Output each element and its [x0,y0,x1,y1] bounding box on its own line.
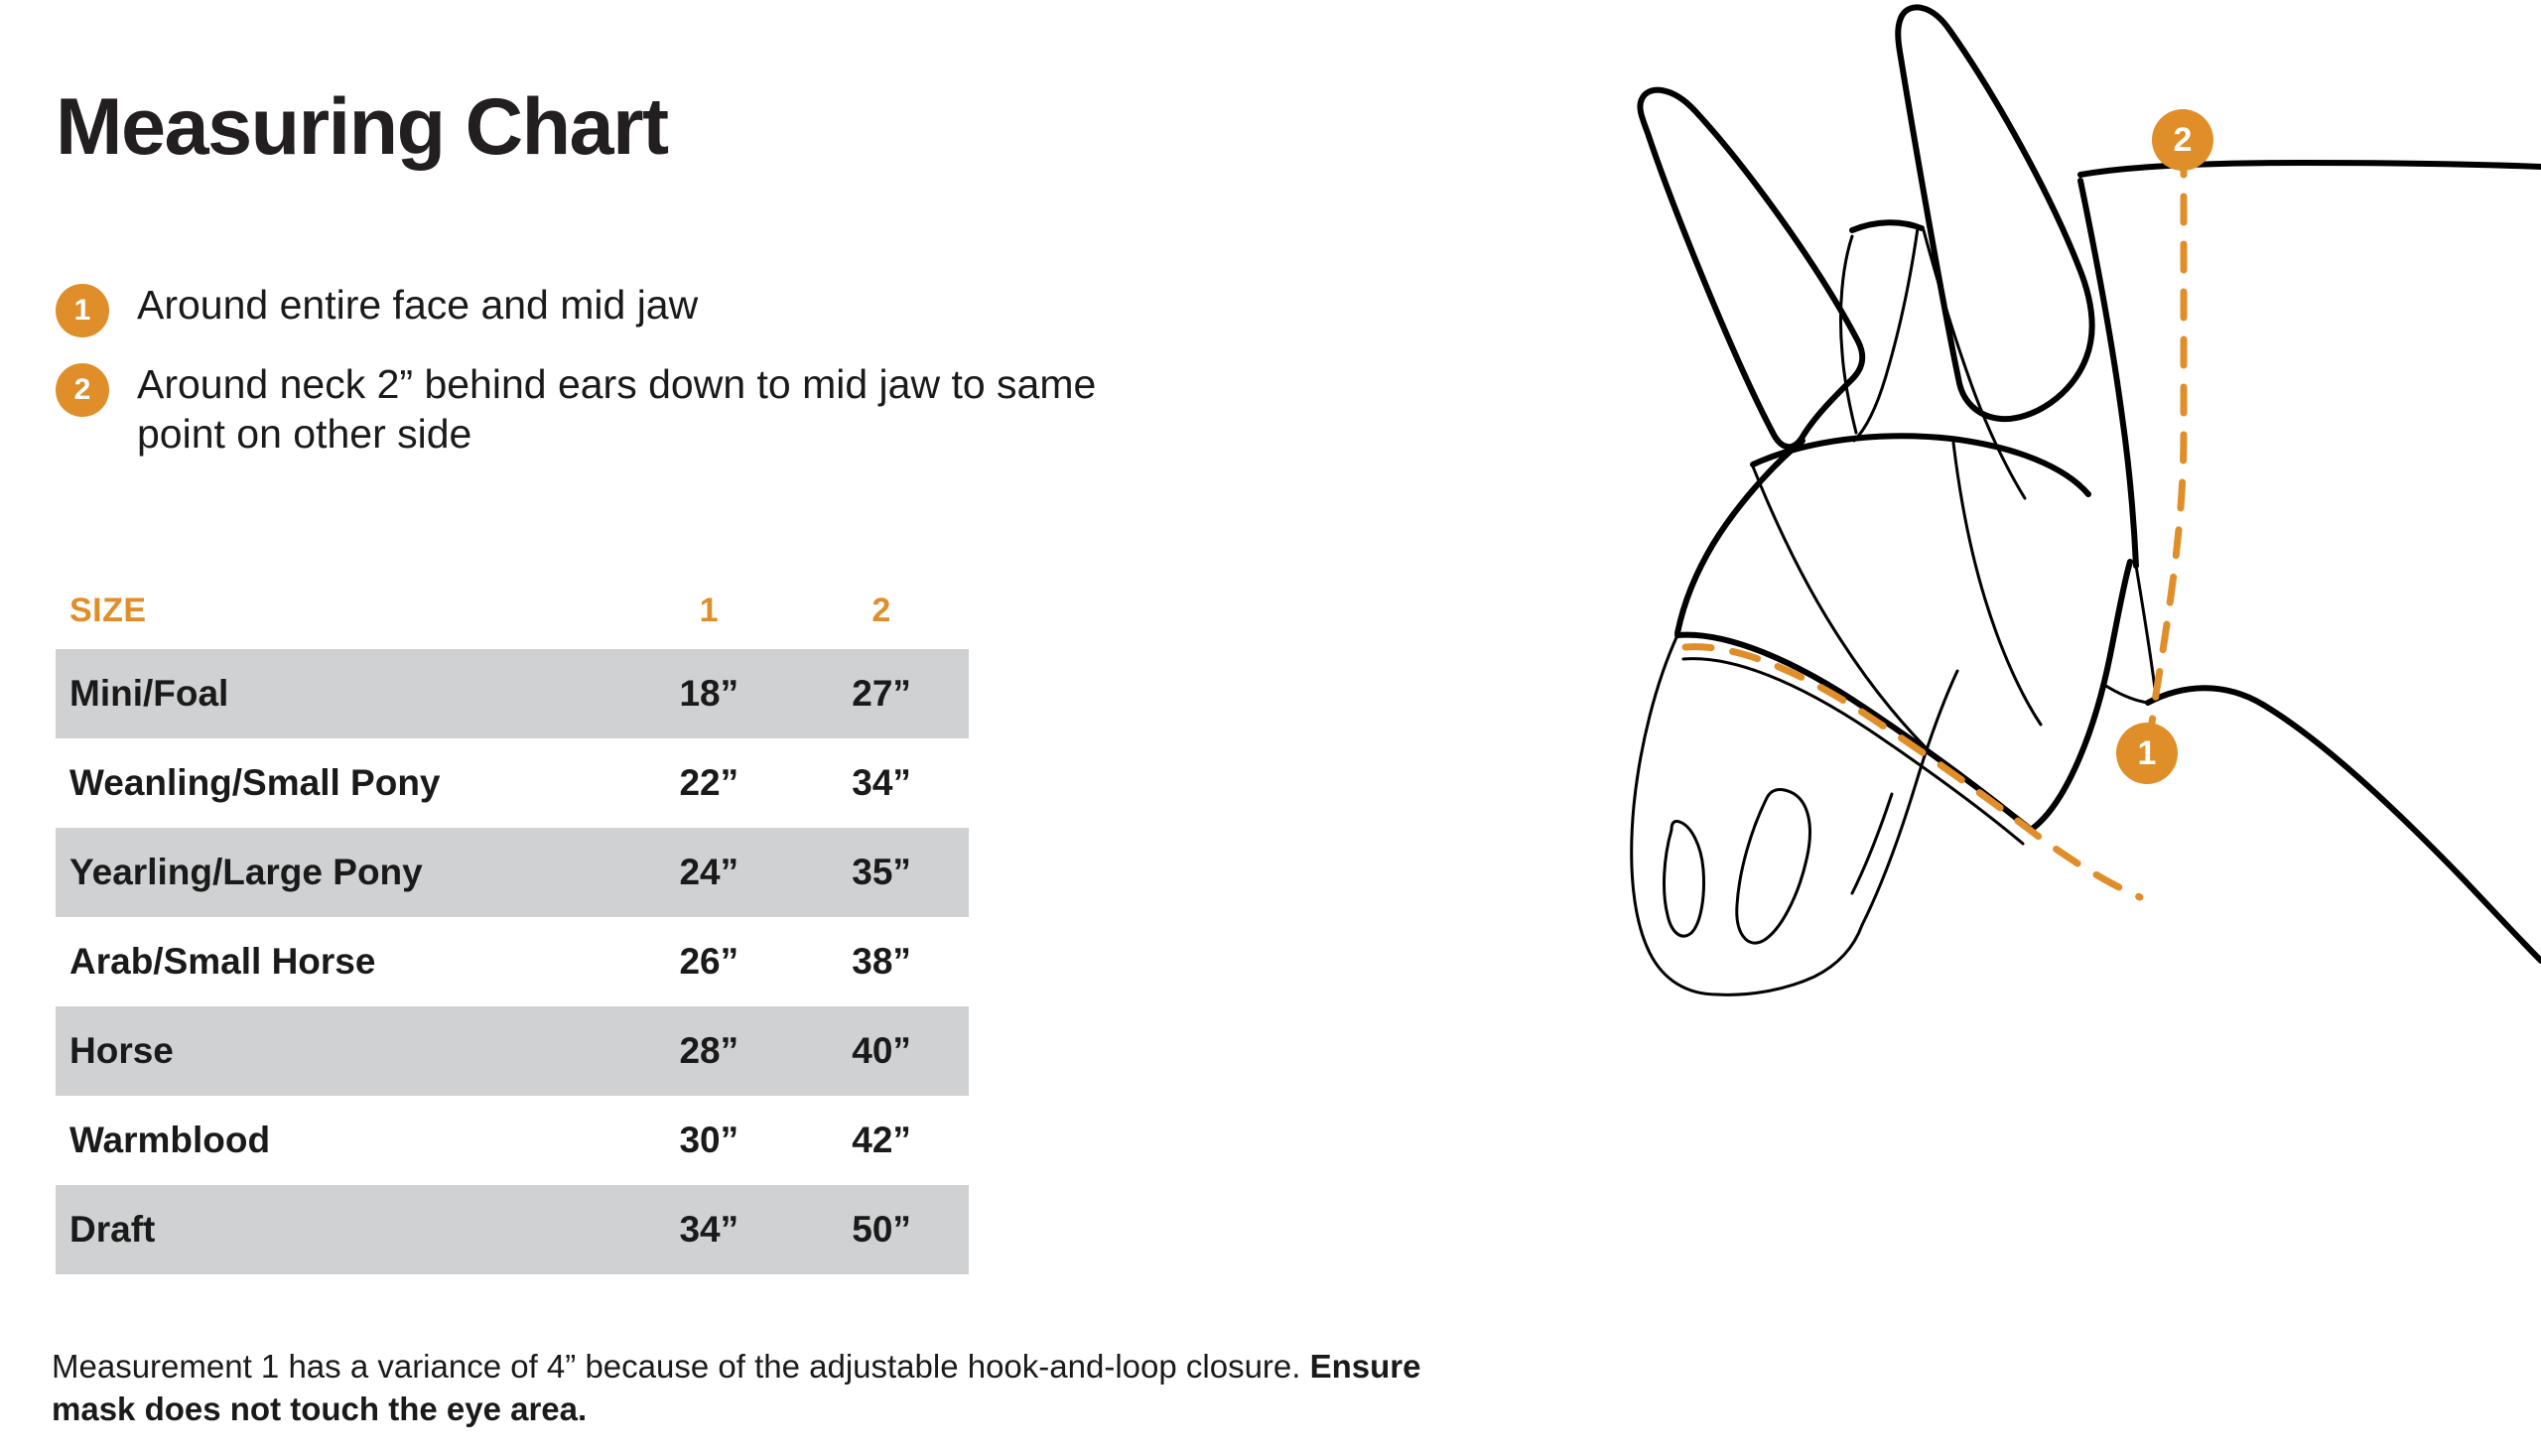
cell-size: Arab/Small Horse [56,917,623,1006]
mask-jaw-strap-inner [1683,659,2023,844]
info-panel: Measuring Chart 1 Around entire face and… [0,0,1608,1456]
cell-size: Weanling/Small Pony [56,738,623,828]
cell-measurement-2: 27” [794,649,969,738]
step-text-1: Around entire face and mid jaw [137,280,698,330]
list-item: 1 Around entire face and mid jaw [56,280,1147,337]
muzzle-bottom-outline [1717,925,1862,994]
list-item: 2 Around neck 2” behind ears down to mid… [56,359,1147,459]
cell-measurement-1: 30” [623,1096,794,1185]
cell-size: Yearling/Large Pony [56,828,623,917]
cell-measurement-2: 42” [794,1096,969,1185]
cell-size: Horse [56,1006,623,1096]
muzzle-left-outline [1632,635,1717,994]
cheek-right-outline [2031,562,2130,830]
table-row: Weanling/Small Pony 22” 34” [56,738,969,828]
table-row: Yearling/Large Pony 24” 35” [56,828,969,917]
table-row: Warmblood 30” 42” [56,1096,969,1185]
cell-measurement-1: 22” [623,738,794,828]
table-row: Horse 28” 40” [56,1006,969,1096]
cell-size: Draft [56,1185,623,1274]
callout-badge-1: 1 [2116,723,2178,784]
cell-measurement-1: 18” [623,649,794,738]
footnote: Measurement 1 has a variance of 4” becau… [52,1346,1501,1431]
measuring-chart-page: Measuring Chart 1 Around entire face and… [0,0,2541,1456]
measurement-steps-list: 1 Around entire face and mid jaw 2 Aroun… [56,280,1147,480]
callout-badge-2: 2 [2152,109,2213,171]
cell-measurement-2: 50” [794,1185,969,1274]
table-header: SIZE 1 2 [56,572,969,649]
cell-size: Warmblood [56,1096,623,1185]
cell-measurement-1: 28” [623,1006,794,1096]
table-header-row: SIZE 1 2 [56,572,969,649]
right-nostril [1737,790,1810,944]
cell-measurement-1: 34” [623,1185,794,1274]
neck-top-line [2080,163,2541,175]
mask-browband-line [1753,436,2088,494]
cell-measurement-2: 35” [794,828,969,917]
table-body: Mini/Foal 18” 27” Weanling/Small Pony 22… [56,649,969,1274]
cell-size: Mini/Foal [56,649,623,738]
column-header-size: SIZE [56,572,623,649]
horse-head-diagram-svg [1568,0,2541,1102]
measurement-2-dashed-line [2150,149,2184,736]
mask-side-seam-right [1953,443,2041,725]
footnote-normal-text: Measurement 1 has a variance of 4” becau… [52,1348,1310,1385]
cell-measurement-2: 40” [794,1006,969,1096]
muzzle-right-outline [1862,671,1957,925]
throat-inner-line [2136,566,2156,697]
table-row: Draft 34” 50” [56,1185,969,1274]
cell-measurement-2: 34” [794,738,969,828]
cell-measurement-2: 38” [794,917,969,1006]
column-header-1: 1 [623,572,794,649]
column-header-2: 2 [794,572,969,649]
cell-measurement-1: 24” [623,828,794,917]
horse-head-illustration: 2 1 [1568,0,2541,1102]
size-table-container: SIZE 1 2 Mini/Foal 18” 27” Weanling/Smal… [56,572,969,1274]
table-row: Arab/Small Horse 26” 38” [56,917,969,1006]
step-badge-1: 1 [56,284,109,337]
left-nostril [1665,821,1704,936]
left-ear-outline [1640,90,1862,448]
step-text-2: Around neck 2” behind ears down to mid j… [137,359,1130,459]
nose-bridge-line [1852,794,1892,893]
mask-side-seam-left [1753,466,1953,774]
throat-notch-line [2104,685,2148,703]
neck-front-line [2080,181,2136,566]
jaw-underline-right [2148,688,2541,961]
page-title: Measuring Chart [56,87,668,168]
right-ear-outline [1898,7,2091,419]
step-badge-2: 2 [56,363,109,417]
poll-top-line [1852,222,1922,230]
table-row: Mini/Foal 18” 27” [56,649,969,738]
mask-seam-forehead-center [1854,228,1918,441]
size-chart-table: SIZE 1 2 Mini/Foal 18” 27” Weanling/Smal… [56,572,969,1274]
cell-measurement-1: 26” [623,917,794,1006]
